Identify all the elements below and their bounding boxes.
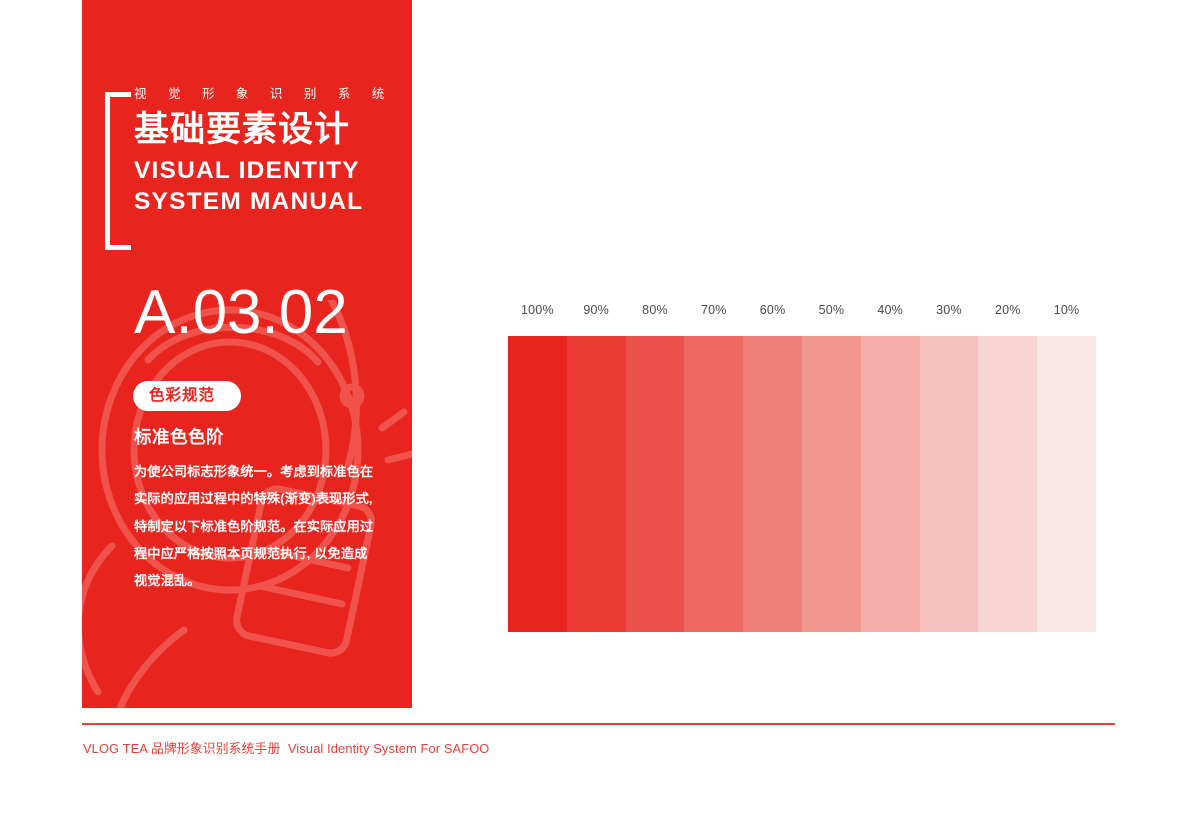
scale-label: 10% [1037,303,1096,317]
color-swatch [802,336,861,632]
color-swatch [567,336,626,632]
scale-label: 20% [978,303,1037,317]
scale-label: 100% [508,303,567,317]
section-subtitle: 标准色色阶 [134,424,224,449]
color-swatch [1037,336,1096,632]
bracket-decoration [105,92,131,250]
footer-divider [82,723,1115,725]
scale-label: 80% [626,303,685,317]
color-scale-labels: 100%90%80%70%60%50%40%30%20%10% [508,303,1096,317]
section-body-text: 为使公司标志形象统一。考虑到标准色在实际的应用过程中的特殊(渐变)表现形式, 特… [134,458,376,595]
panel-title-en-line1: VISUAL IDENTITY [134,155,404,186]
color-scale-swatches [508,336,1096,632]
color-swatch [861,336,920,632]
eyebrow-text: 视 觉 形 象 识 别 系 统 [134,88,404,102]
section-badge: 色彩规范 [133,381,241,411]
footer-text: VLOG TEA 品牌形象识别系统手册 Visual Identity Syst… [83,738,489,757]
color-swatch [508,336,567,632]
section-code: A.03.02 [134,282,348,344]
color-swatch [920,336,979,632]
panel-header: 视 觉 形 象 识 别 系 统 基础要素设计 VISUAL IDENTITY S… [134,88,404,218]
color-swatch [978,336,1037,632]
panel-title-en-line2: SYSTEM MANUAL [134,186,404,217]
left-red-panel: 视 觉 形 象 识 别 系 统 基础要素设计 VISUAL IDENTITY S… [82,0,412,708]
color-swatch [684,336,743,632]
panel-title-cn: 基础要素设计 [134,110,404,150]
scale-label: 30% [920,303,979,317]
scale-label: 50% [802,303,861,317]
scale-label: 60% [743,303,802,317]
scale-label: 40% [861,303,920,317]
color-swatch [626,336,685,632]
scale-label: 70% [684,303,743,317]
scale-label: 90% [567,303,626,317]
color-swatch [743,336,802,632]
